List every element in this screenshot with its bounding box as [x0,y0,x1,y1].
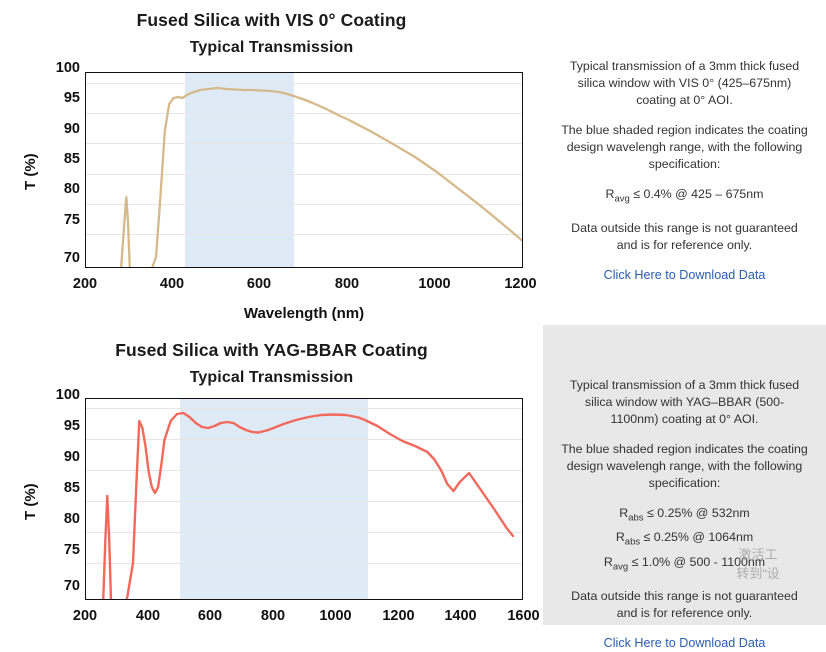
ytick-yag-90: 90 [40,449,80,465]
description-text-yag: Typical transmission of a 3mm thick fuse… [543,377,826,652]
desc-intro-vis: Typical transmission of a 3mm thick fuse… [561,58,808,109]
chart-title-line1: Fused Silica with VIS 0° Coating [0,10,543,31]
ytick-vis-95: 95 [40,90,80,106]
xaxis-label-vis: Wavelength (nm) [85,305,523,322]
desc-band-note-yag: The blue shaded region indicates the coa… [561,441,808,492]
ytick-yag-100: 100 [40,387,80,403]
spec-yag-0: Rabs ≤ 0.25% @ 532nm [561,505,808,526]
xtick-yag-600: 600 [185,608,235,624]
page-root: Fused Silica with VIS 0° Coating Typical… [0,0,826,625]
xtick-vis-800: 800 [322,276,372,292]
chart-title-line2-yag: Typical Transmission [0,369,543,387]
download-data-link-vis[interactable]: Click Here to Download Data [561,267,808,284]
chart-yag-bbar: Fused Silica with YAG-BBAR Coating Typic… [0,325,543,625]
desc-footnote-yag: Data outside this range is not guarantee… [561,588,808,622]
desc-footnote-vis: Data outside this range is not guarantee… [561,220,808,254]
chart-vis-coating: Fused Silica with VIS 0° Coating Typical… [0,0,543,325]
spec-vis-0: Ravg ≤ 0.4% @ 425 – 675nm [561,186,808,207]
panel-vis-coating: Fused Silica with VIS 0° Coating Typical… [0,0,826,325]
ytick-vis-90: 90 [40,121,80,137]
activation-watermark: 激活工 转到“设 [703,545,813,583]
plot-area-vis [85,72,523,268]
ytick-vis-100: 100 [40,60,80,76]
download-data-link-yag[interactable]: Click Here to Download Data [561,635,808,652]
chart-title-line2: Typical Transmission [0,39,543,57]
ytick-vis-70: 70 [40,250,80,266]
description-text-vis: Typical transmission of a 3mm thick fuse… [543,58,826,284]
description-panel-yag: Typical transmission of a 3mm thick fuse… [543,325,826,625]
desc-intro-yag: Typical transmission of a 3mm thick fuse… [561,377,808,428]
ytick-yag-70: 70 [40,578,80,594]
ytick-vis-80: 80 [40,181,80,197]
ytick-yag-85: 85 [40,480,80,496]
xtick-vis-600: 600 [234,276,284,292]
xtick-yag-1200: 1200 [371,608,426,624]
chart-title-line1-yag: Fused Silica with YAG-BBAR Coating [0,340,543,361]
desc-band-note-vis: The blue shaded region indicates the coa… [561,122,808,173]
yaxis-label-vis: T (%) [22,153,39,190]
panel-yag-bbar-coating: Fused Silica with YAG-BBAR Coating Typic… [0,325,826,625]
plot-area-yag [85,398,523,600]
ytick-yag-80: 80 [40,511,80,527]
ytick-yag-75: 75 [40,542,80,558]
xtick-vis-400: 400 [147,276,197,292]
xtick-yag-1000: 1000 [308,608,363,624]
xtick-vis-200: 200 [60,276,110,292]
description-panel-vis: Typical transmission of a 3mm thick fuse… [543,0,826,325]
xtick-vis-1000: 1000 [407,276,462,292]
xtick-yag-200: 200 [60,608,110,624]
ytick-vis-75: 75 [40,212,80,228]
ytick-yag-95: 95 [40,418,80,434]
xtick-yag-400: 400 [123,608,173,624]
transmission-curve-yag [86,399,523,600]
transmission-curve-vis [86,73,523,268]
ytick-vis-85: 85 [40,151,80,167]
xtick-yag-800: 800 [248,608,298,624]
yaxis-label-yag: T (%) [22,483,39,520]
xtick-yag-1400: 1400 [433,608,488,624]
xtick-vis-1200: 1200 [493,276,548,292]
